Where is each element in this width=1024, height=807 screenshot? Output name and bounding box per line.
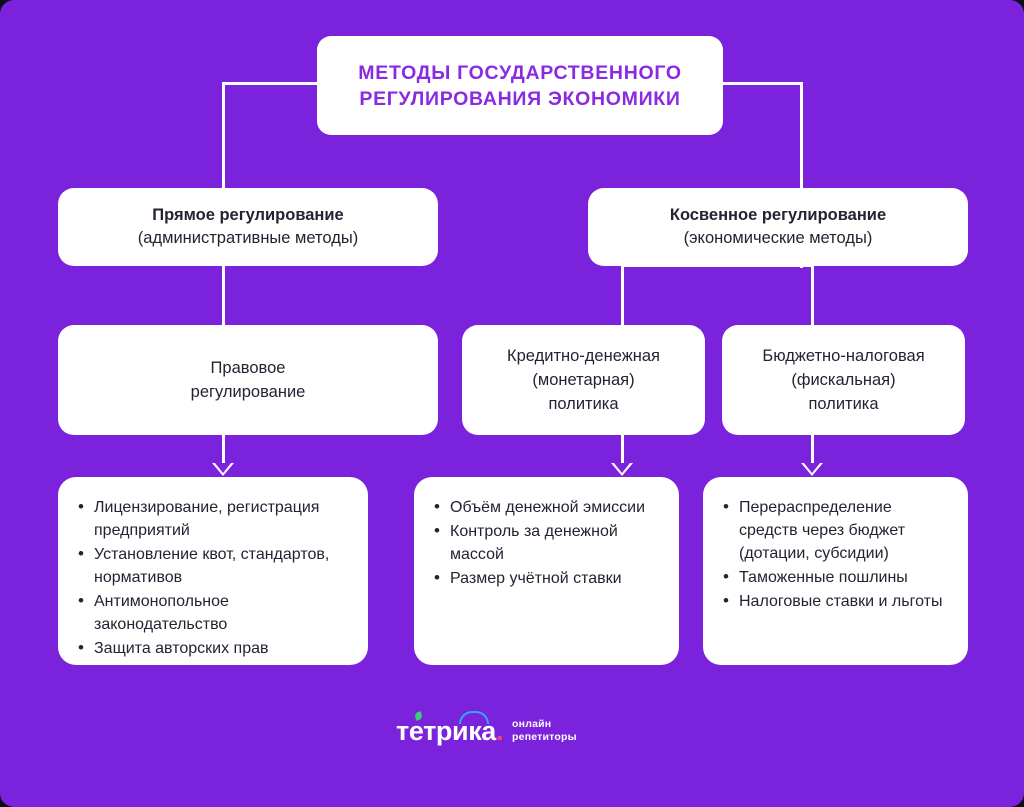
node-monetary-policy: Кредитно-денежная (монетарная) политика (462, 325, 705, 435)
node-legal-regulation: Правовое регулирование (58, 325, 438, 435)
connector-indirect-drop (800, 266, 803, 268)
list-direct-measures: Лицензирование, регистрация предприятийУ… (58, 477, 368, 665)
list-item: Защита авторских прав (77, 637, 348, 660)
list-monetary-measures: Объём денежной эмиссииКонтроль за денежн… (414, 477, 679, 665)
connector-title-spine (222, 82, 321, 85)
node-indirect-regulation-title: Косвенное регулирование (670, 204, 886, 227)
brand-logo-dot: . (496, 716, 503, 746)
list-item: Объём денежной эмиссии (433, 496, 659, 519)
list-item: Установление квот, стандартов, нормативо… (77, 543, 348, 589)
arrow-down-icon-monetary (611, 463, 633, 476)
node-fiscal-policy-line-2: (фискальная) (791, 368, 895, 392)
list-fiscal-measures-items: Перераспределение средств через бюджет (… (703, 477, 968, 614)
connector-direct-to-legal (222, 266, 225, 327)
diagram-title-box: МЕТОДЫ ГОСУДАРСТВЕННОГО РЕГУЛИРОВАНИЯ ЭК… (317, 36, 723, 135)
node-indirect-regulation: Косвенное регулирование (экономические м… (588, 188, 968, 266)
node-legal-regulation-line-1: Правовое (211, 356, 286, 380)
diagram-canvas: МЕТОДЫ ГОСУДАРСТВЕННОГО РЕГУЛИРОВАНИЯ ЭК… (0, 0, 1024, 807)
connector-indirect-to-monetary (621, 264, 624, 327)
node-direct-regulation-title: Прямое регулирование (152, 204, 343, 227)
node-fiscal-policy-line-1: Бюджетно-налоговая (762, 344, 924, 368)
list-direct-measures-items: Лицензирование, регистрация предприятийУ… (58, 477, 368, 661)
node-direct-regulation: Прямое регулирование (административные м… (58, 188, 438, 266)
connector-title-to-indirect (800, 82, 803, 190)
list-item: Таможенные пошлины (722, 566, 948, 589)
list-item: Налоговые ставки и льготы (722, 590, 948, 613)
connector-indirect-to-fiscal (811, 264, 814, 327)
list-item: Антимонопольное законодательство (77, 590, 348, 636)
node-direct-regulation-subtitle: (административные методы) (138, 227, 358, 250)
list-item: Контроль за денежной массой (433, 520, 659, 566)
list-item: Перераспределение средств через бюджет (… (722, 496, 948, 565)
brand-logo-wordmark: тетрика. (396, 716, 503, 746)
node-fiscal-policy-line-3: политика (808, 392, 878, 416)
list-monetary-measures-items: Объём денежной эмиссииКонтроль за денежн… (414, 477, 679, 591)
brand-logo: тетрика. онлайн репетиторы (396, 716, 577, 746)
list-fiscal-measures: Перераспределение средств через бюджет (… (703, 477, 968, 665)
brand-logo-tagline: онлайн репетиторы (512, 718, 577, 744)
brand-logo-tagline-line-2: репетиторы (512, 731, 577, 744)
list-item: Лицензирование, регистрация предприятий (77, 496, 348, 542)
diagram-title-line-1: МЕТОДЫ ГОСУДАРСТВЕННОГО (358, 60, 681, 86)
diagram-title-line-2: РЕГУЛИРОВАНИЯ ЭКОНОМИКИ (359, 86, 680, 112)
node-monetary-policy-line-2: (монетарная) (532, 368, 634, 392)
arrow-down-icon-fiscal (801, 463, 823, 476)
connector-title-spine-right (719, 82, 803, 85)
list-item: Размер учётной ставки (433, 567, 659, 590)
connector-title-to-direct (222, 82, 225, 190)
node-monetary-policy-line-3: политика (548, 392, 618, 416)
arc-accent-icon (459, 711, 489, 724)
node-legal-regulation-line-2: регулирование (191, 380, 306, 404)
node-fiscal-policy: Бюджетно-налоговая (фискальная) политика (722, 325, 965, 435)
node-indirect-regulation-subtitle: (экономические методы) (684, 227, 873, 250)
brand-logo-tagline-line-1: онлайн (512, 718, 577, 731)
arrow-down-icon-legal (212, 463, 234, 476)
node-monetary-policy-line-1: Кредитно-денежная (507, 344, 660, 368)
